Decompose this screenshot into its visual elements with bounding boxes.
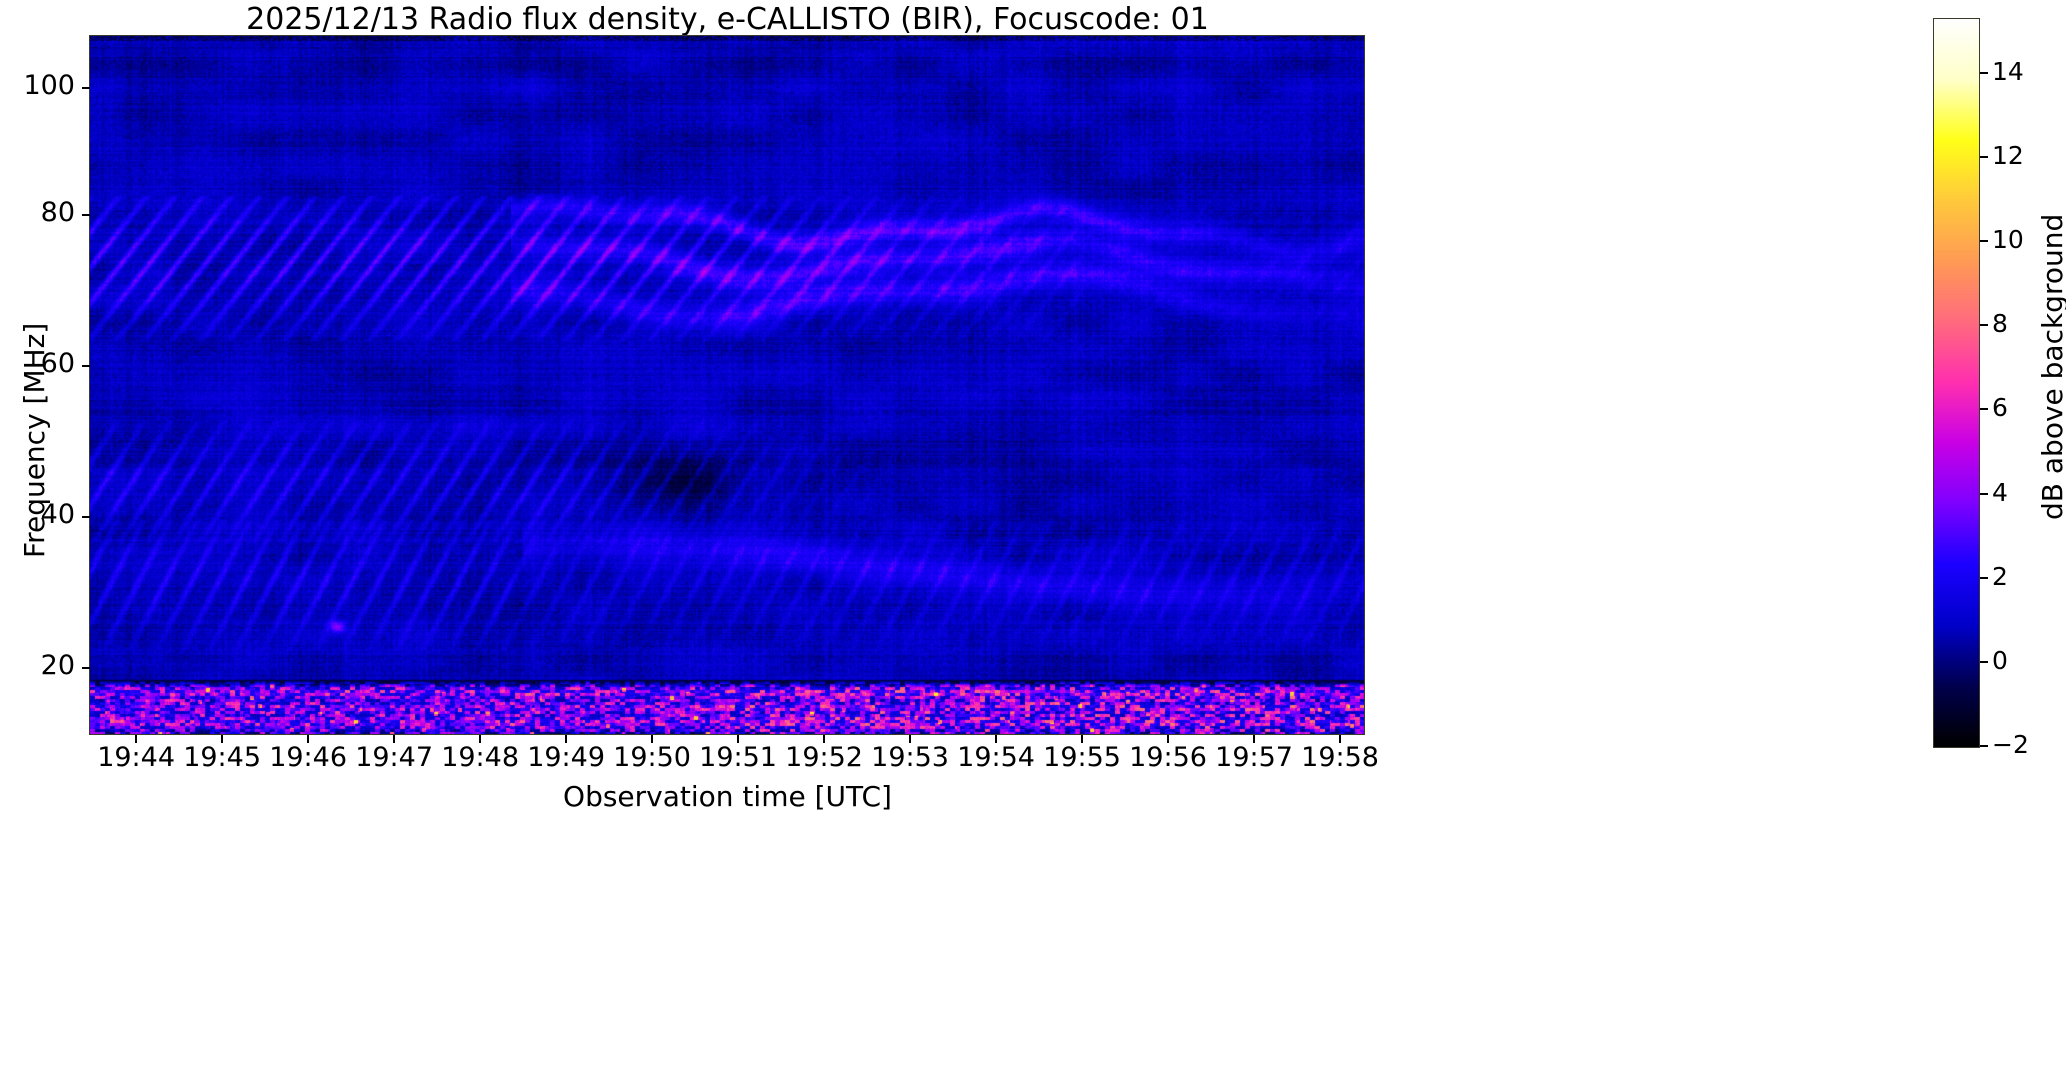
x-tick-mark	[1167, 735, 1169, 743]
y-tick-mark	[82, 365, 90, 367]
colorbar-tick-label: 4	[1992, 478, 2008, 507]
colorbar-tick-label: 12	[1992, 141, 2024, 170]
colorbar-tick-label: 0	[1992, 646, 2008, 675]
colorbar-tick-mark	[1980, 745, 1988, 747]
colorbar-tick-label: 6	[1992, 393, 2008, 422]
y-tick-label: 60	[0, 348, 75, 379]
colorbar-gradient	[1934, 19, 1979, 747]
x-tick-mark	[135, 735, 137, 743]
colorbar-tick-label: 8	[1992, 309, 2008, 338]
colorbar-tick-mark	[1980, 493, 1988, 495]
y-tick-mark	[82, 214, 90, 216]
colorbar-tick-mark	[1980, 240, 1988, 242]
x-tick-mark	[909, 735, 911, 743]
x-tick-mark	[651, 735, 653, 743]
colorbar-tick-mark	[1980, 324, 1988, 326]
x-tick-mark	[393, 735, 395, 743]
colorbar-tick-mark	[1980, 661, 1988, 663]
spectrogram-plot	[89, 35, 1365, 735]
colorbar	[1933, 18, 1980, 748]
colorbar-tick-mark	[1980, 72, 1988, 74]
x-tick-mark	[479, 735, 481, 743]
x-tick-mark	[565, 735, 567, 743]
colorbar-tick-label: 10	[1992, 225, 2024, 254]
spectrogram-image	[90, 36, 1364, 734]
y-tick-label: 100	[0, 70, 75, 101]
x-tick-mark	[823, 735, 825, 743]
x-tick-mark	[221, 735, 223, 743]
x-axis-label: Observation time [UTC]	[0, 780, 1455, 813]
y-tick-mark	[82, 516, 90, 518]
colorbar-tick-mark	[1980, 156, 1988, 158]
colorbar-tick-label: 2	[1992, 562, 2008, 591]
x-tick-mark	[737, 735, 739, 743]
y-tick-label: 40	[0, 499, 75, 530]
colorbar-label: dB above background	[2036, 214, 2066, 520]
colorbar-tick-label: −2	[1992, 730, 2029, 759]
y-tick-label: 80	[0, 197, 75, 228]
x-tick-mark	[1339, 735, 1341, 743]
y-tick-mark	[82, 87, 90, 89]
x-tick-mark	[995, 735, 997, 743]
figure-canvas: 2025/12/13 Radio flux density, e-CALLIST…	[0, 0, 2066, 1067]
colorbar-tick-mark	[1980, 408, 1988, 410]
x-tick-label: 19:58	[1260, 742, 1420, 773]
x-tick-mark	[1253, 735, 1255, 743]
colorbar-tick-mark	[1980, 577, 1988, 579]
page-title: 2025/12/13 Radio flux density, e-CALLIST…	[0, 2, 1455, 37]
x-tick-mark	[307, 735, 309, 743]
y-tick-label: 20	[0, 650, 75, 681]
colorbar-tick-label: 14	[1992, 57, 2024, 86]
y-tick-mark	[82, 667, 90, 669]
x-tick-mark	[1081, 735, 1083, 743]
